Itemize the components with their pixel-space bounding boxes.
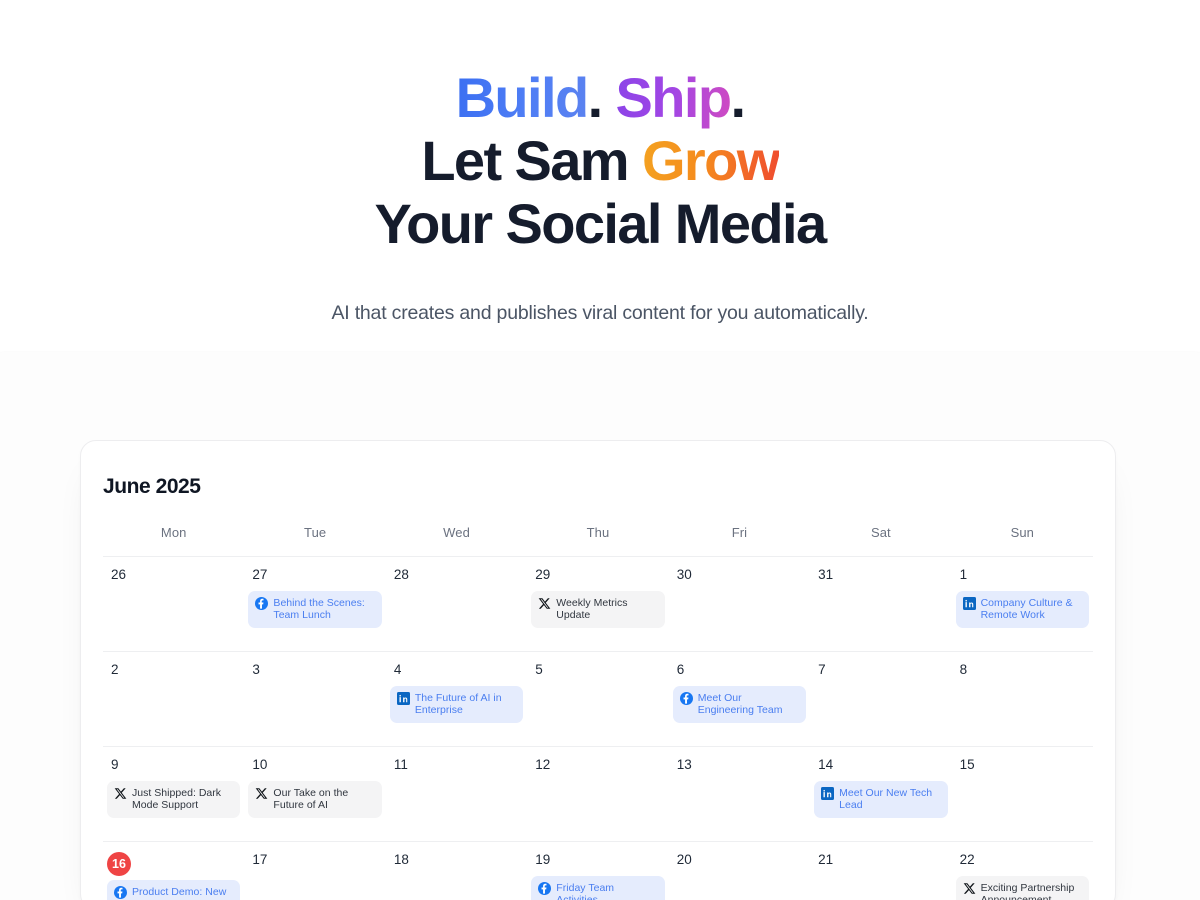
- calendar-day-number: 17: [248, 852, 381, 868]
- calendar-day-number: 5: [531, 662, 664, 678]
- calendar-day-number: 22: [956, 852, 1089, 868]
- calendar-day-cell-27[interactable]: 27Behind the Scenes: Team Lunch: [244, 567, 385, 651]
- calendar-day-number: 6: [673, 662, 806, 678]
- calendar-day-number: 19: [531, 852, 664, 868]
- calendar-day-cell-30[interactable]: 30: [669, 567, 810, 651]
- calendar-day-number: 1: [956, 567, 1089, 583]
- calendar-day-cell-17[interactable]: 17: [244, 852, 385, 900]
- calendar-day-cell-7[interactable]: 7: [810, 662, 951, 746]
- calendar-event-x[interactable]: Weekly Metrics Update: [531, 591, 664, 628]
- calendar-event-facebook[interactable]: Friday Team Activities: [531, 876, 664, 900]
- calendar-event-title: Our Take on the Future of AI: [273, 787, 373, 811]
- calendar-today-badge: 16: [107, 852, 131, 876]
- x-icon: [963, 882, 976, 895]
- landing-page: Build. Ship. Let Sam Grow Your Social Me…: [0, 0, 1200, 900]
- calendar-day-cell-1[interactable]: 1Company Culture & Remote Work: [952, 567, 1093, 651]
- weekday-label-fri: Fri: [669, 525, 810, 556]
- calendar-day-number: 9: [107, 757, 240, 773]
- calendar-day-number: 29: [531, 567, 664, 583]
- calendar-day-cell-10[interactable]: 10Our Take on the Future of AI: [244, 757, 385, 841]
- hero-subtitle: AI that creates and publishes viral cont…: [0, 299, 1200, 327]
- calendar-day-cell-12[interactable]: 12: [527, 757, 668, 841]
- calendar-day-number: 10: [248, 757, 381, 773]
- content-calendar-card: June 2025 MonTueWedThuFriSatSun 2627Behi…: [80, 440, 1116, 900]
- weekday-label-wed: Wed: [386, 525, 527, 556]
- headline-word-build: Build: [456, 66, 588, 129]
- calendar-day-number: 4: [390, 662, 523, 678]
- headline-dot-2: .: [730, 66, 744, 129]
- calendar-day-number: 31: [814, 567, 947, 583]
- headline-word-ship: Ship: [616, 66, 731, 129]
- linkedin-icon: [821, 787, 834, 800]
- calendar-day-number: 11: [390, 757, 523, 773]
- calendar-day-number: 14: [814, 757, 947, 773]
- calendar-day-cell-29[interactable]: 29Weekly Metrics Update: [527, 567, 668, 651]
- facebook-icon: [114, 886, 127, 899]
- calendar-day-cell-2[interactable]: 2: [103, 662, 244, 746]
- calendar-day-number: 12: [531, 757, 664, 773]
- calendar-day-number: 28: [390, 567, 523, 583]
- calendar-event-title: Product Demo: New Features: [132, 886, 232, 900]
- facebook-icon: [680, 692, 693, 705]
- x-icon: [255, 787, 268, 800]
- calendar-event-title: Meet Our Engineering Team: [698, 692, 798, 716]
- calendar-week-row: 16Product Demo: New Features171819Friday…: [103, 841, 1093, 900]
- calendar-day-number: 21: [814, 852, 947, 868]
- facebook-icon: [538, 882, 551, 895]
- calendar-day-number: 27: [248, 567, 381, 583]
- headline-line-3: Your Social Media: [0, 192, 1200, 255]
- weekday-label-tue: Tue: [244, 525, 385, 556]
- calendar-event-x[interactable]: Our Take on the Future of AI: [248, 781, 381, 818]
- calendar-day-cell-14[interactable]: 14Meet Our New Tech Lead: [810, 757, 951, 841]
- linkedin-icon: [963, 597, 976, 610]
- calendar-day-cell-20[interactable]: 20: [669, 852, 810, 900]
- calendar-day-number: 20: [673, 852, 806, 868]
- calendar-event-title: Exciting Partnership Announcement: [981, 882, 1081, 900]
- calendar-day-number: 26: [107, 567, 240, 583]
- calendar-week-row: 234The Future of AI in Enterprise56Meet …: [103, 651, 1093, 746]
- weekday-label-sat: Sat: [810, 525, 951, 556]
- calendar-day-number: 18: [390, 852, 523, 868]
- headline-text-let-sam: Let Sam: [421, 129, 642, 192]
- calendar-day-cell-11[interactable]: 11: [386, 757, 527, 841]
- calendar-day-cell-13[interactable]: 13: [669, 757, 810, 841]
- calendar-event-linkedin[interactable]: Company Culture & Remote Work: [956, 591, 1089, 628]
- calendar-week-row: 9Just Shipped: Dark Mode Support10Our Ta…: [103, 746, 1093, 841]
- calendar-event-linkedin[interactable]: Meet Our New Tech Lead: [814, 781, 947, 818]
- calendar-day-cell-8[interactable]: 8: [952, 662, 1093, 746]
- calendar-day-number: 13: [673, 757, 806, 773]
- calendar-weekday-header: MonTueWedThuFriSatSun: [81, 525, 1115, 556]
- linkedin-icon: [397, 692, 410, 705]
- calendar-event-linkedin[interactable]: The Future of AI in Enterprise: [390, 686, 523, 723]
- calendar-event-facebook[interactable]: Meet Our Engineering Team: [673, 686, 806, 723]
- page-title: Build. Ship. Let Sam Grow Your Social Me…: [0, 66, 1200, 255]
- calendar-day-number: 3: [248, 662, 381, 678]
- calendar-event-title: Company Culture & Remote Work: [981, 597, 1081, 621]
- calendar-day-cell-4[interactable]: 4The Future of AI in Enterprise: [386, 662, 527, 746]
- calendar-event-title: Weekly Metrics Update: [556, 597, 656, 621]
- calendar-day-cell-22[interactable]: 22Exciting Partnership Announcement: [952, 852, 1093, 900]
- x-icon: [114, 787, 127, 800]
- calendar-day-cell-28[interactable]: 28: [386, 567, 527, 651]
- calendar-event-facebook[interactable]: Product Demo: New Features: [107, 880, 240, 900]
- calendar-event-title: Just Shipped: Dark Mode Support: [132, 787, 232, 811]
- headline-line-1: Build. Ship.: [0, 66, 1200, 129]
- weekday-label-sun: Sun: [952, 525, 1093, 556]
- calendar-day-cell-6[interactable]: 6Meet Our Engineering Team: [669, 662, 810, 746]
- calendar-day-cell-3[interactable]: 3: [244, 662, 385, 746]
- calendar-day-cell-26[interactable]: 26: [103, 567, 244, 651]
- weekday-label-mon: Mon: [103, 525, 244, 556]
- calendar-day-cell-9[interactable]: 9Just Shipped: Dark Mode Support: [103, 757, 244, 841]
- hero-section: Build. Ship. Let Sam Grow Your Social Me…: [0, 0, 1200, 327]
- calendar-event-x[interactable]: Just Shipped: Dark Mode Support: [107, 781, 240, 818]
- headline-word-grow: Grow: [642, 129, 779, 192]
- headline-dot-1: .: [588, 66, 602, 129]
- calendar-event-facebook[interactable]: Behind the Scenes: Team Lunch: [248, 591, 381, 628]
- calendar-weeks: 2627Behind the Scenes: Team Lunch2829Wee…: [81, 556, 1115, 900]
- calendar-week-row: 2627Behind the Scenes: Team Lunch2829Wee…: [103, 556, 1093, 651]
- calendar-day-number: 8: [956, 662, 1089, 678]
- calendar-day-number: 15: [956, 757, 1089, 773]
- calendar-day-cell-18[interactable]: 18: [386, 852, 527, 900]
- calendar-event-title: The Future of AI in Enterprise: [415, 692, 515, 716]
- calendar-month-title: June 2025: [81, 463, 1115, 499]
- calendar-day-number: 2: [107, 662, 240, 678]
- calendar-day-number: 7: [814, 662, 947, 678]
- calendar-day-cell-5[interactable]: 5: [527, 662, 668, 746]
- calendar-day-cell-21[interactable]: 21: [810, 852, 951, 900]
- x-icon: [538, 597, 551, 610]
- calendar-event-title: Behind the Scenes: Team Lunch: [273, 597, 373, 621]
- calendar-day-cell-19[interactable]: 19Friday Team Activities: [527, 852, 668, 900]
- calendar-event-x[interactable]: Exciting Partnership Announcement: [956, 876, 1089, 900]
- calendar-day-cell-15[interactable]: 15: [952, 757, 1093, 841]
- headline-line-2: Let Sam Grow: [0, 129, 1200, 192]
- calendar-event-title: Meet Our New Tech Lead: [839, 787, 939, 811]
- facebook-icon: [255, 597, 268, 610]
- calendar-day-number: 30: [673, 567, 806, 583]
- weekday-label-thu: Thu: [527, 525, 668, 556]
- calendar-event-title: Friday Team Activities: [556, 882, 656, 900]
- calendar-day-cell-16[interactable]: 16Product Demo: New Features: [103, 852, 244, 900]
- calendar-day-cell-31[interactable]: 31: [810, 567, 951, 651]
